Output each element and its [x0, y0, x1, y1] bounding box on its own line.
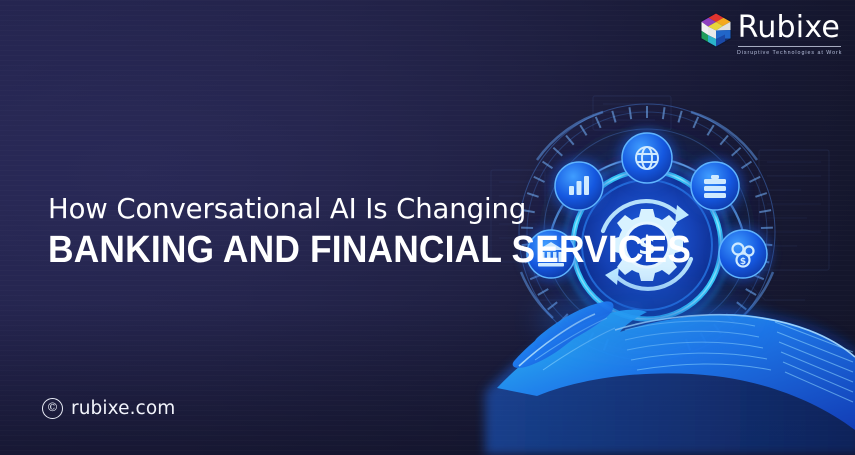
rubixe-logo[interactable]: Rubixe Disruptive Technologies at Work	[699, 12, 841, 57]
logo-wordmark: Rubixe	[738, 13, 841, 43]
headline-line-1: How Conversational AI Is Changing	[48, 193, 528, 226]
site-attribution[interactable]: © rubixe.com	[42, 398, 175, 419]
copyright-icon: ©	[42, 398, 63, 419]
logo-divider	[738, 46, 841, 47]
headline-line-2: BANKING AND FINANCIAL SERVICES	[48, 230, 494, 270]
rubixe-cube-logo-icon	[699, 12, 733, 48]
website-url: rubixe.com	[71, 398, 175, 419]
blog-banner: $	[0, 0, 855, 455]
logo-tagline: Disruptive Technologies at Work	[737, 50, 842, 57]
page-title: How Conversational AI Is Changing BANKIN…	[48, 193, 528, 270]
